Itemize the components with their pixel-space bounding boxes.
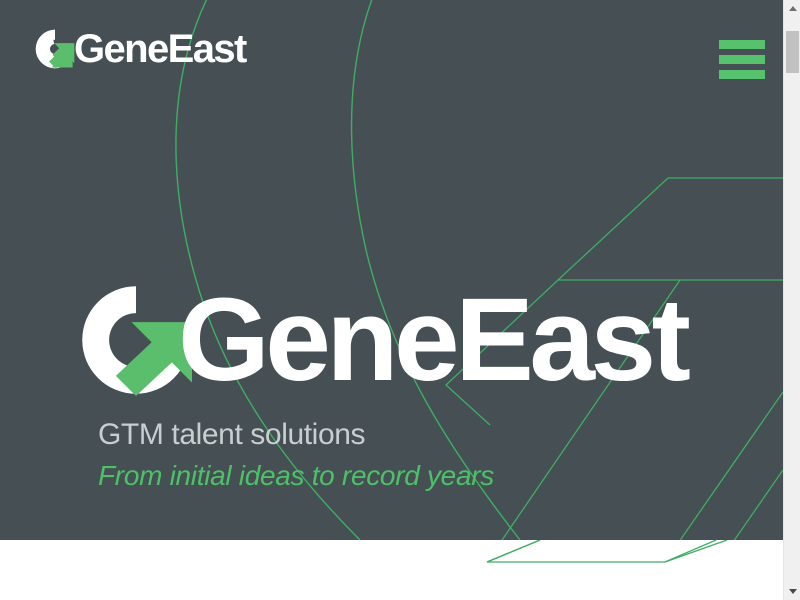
chevron-up-icon: [789, 6, 797, 11]
scrollbar-thumb[interactable]: [786, 31, 799, 73]
browser-viewport: GeneEast GeneEast: [0, 0, 783, 600]
hero-section: GeneEast GeneEast: [0, 0, 783, 540]
brand-name-text: GeneEast: [74, 28, 246, 70]
hamburger-bar-3: [719, 70, 765, 79]
scrollbar-track[interactable]: [784, 17, 800, 583]
arrow-head-upper-icon: [558, 178, 783, 280]
hero-tagline: GTM talent solutions: [98, 418, 686, 452]
scrollbar-up-button[interactable]: [784, 0, 800, 17]
hamburger-bar-1: [719, 40, 765, 49]
vertical-scrollbar[interactable]: [783, 0, 800, 600]
scrollbar-down-button[interactable]: [784, 583, 800, 600]
hero-wordmark: GeneEast: [80, 282, 686, 398]
below-fold-area: [0, 540, 783, 600]
arrow-overflow-right-icon: [665, 540, 727, 562]
hamburger-bar-2: [719, 55, 765, 64]
site-header: GeneEast: [0, 0, 783, 110]
page-root: GeneEast GeneEast: [0, 0, 800, 600]
arrow-overflow-left-icon: [487, 540, 540, 562]
g-arrow-logo-icon: [34, 28, 76, 70]
arrow-overflow-icon: [487, 540, 716, 562]
brand-logo-link[interactable]: GeneEast: [34, 28, 246, 70]
arrow-tail-icon: [731, 470, 783, 545]
chevron-down-icon: [789, 589, 797, 594]
hero-content: GeneEast GTM talent solutions From initi…: [80, 282, 686, 492]
hero-wordmark-text: GeneEast: [178, 284, 686, 396]
hamburger-menu-button[interactable]: [719, 36, 765, 82]
background-line-art-overflow: [0, 540, 783, 600]
hero-subtagline: From initial ideas to record years: [98, 460, 686, 492]
g-arrow-logo-mark: [80, 284, 192, 396]
